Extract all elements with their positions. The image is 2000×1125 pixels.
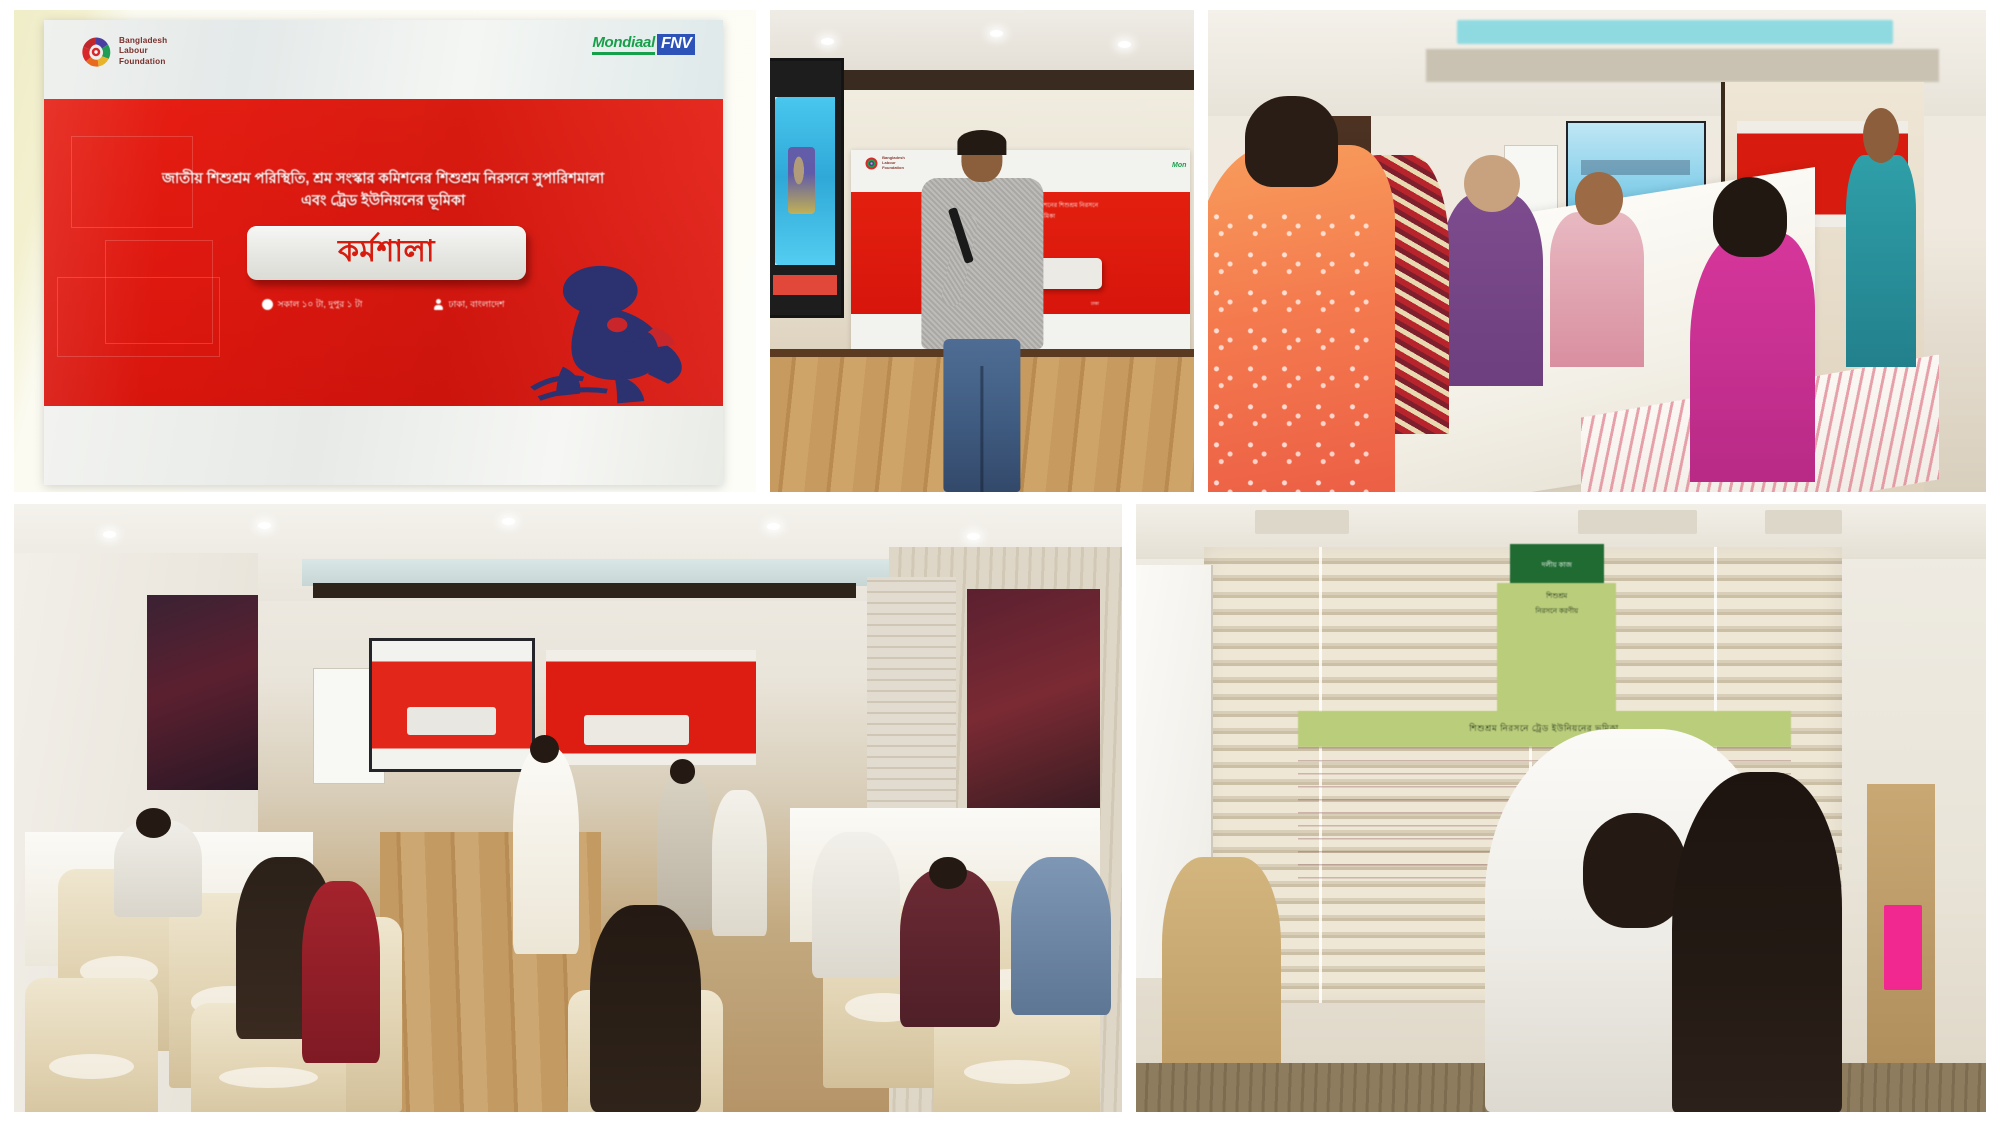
blf-gear-icon xyxy=(79,35,113,69)
participant-seated xyxy=(812,832,901,978)
mondiaal-wordmark: Mondiaal xyxy=(592,34,655,55)
banner-bottom-strip xyxy=(44,406,723,485)
participant-woman-long-hair xyxy=(1672,772,1842,1112)
presenter-head xyxy=(530,735,559,763)
downlight-icon xyxy=(821,38,834,45)
ceiling-cove-light xyxy=(1457,20,1893,44)
group-work-title-card: দলীয় কাজ xyxy=(1510,544,1604,587)
clock-icon xyxy=(262,299,273,310)
watermark-line xyxy=(57,277,220,357)
meeting-room-photo xyxy=(1208,10,1986,492)
slide-footer-bar xyxy=(773,275,837,295)
wall-art xyxy=(967,589,1100,808)
pink-marker-card xyxy=(1884,905,1922,990)
speaker-jeans xyxy=(944,339,1020,492)
blf-logo-small: Bangladesh Labour Foundation xyxy=(864,156,905,171)
participant-seated xyxy=(1011,857,1111,1015)
participant-seated xyxy=(1550,212,1643,366)
participant-head xyxy=(929,857,967,890)
downlight-icon xyxy=(767,523,780,530)
ceiling-cove-light xyxy=(302,559,900,586)
speaker-shirt xyxy=(921,178,1043,349)
blf-logo-text: Bangladesh Labour Foundation xyxy=(119,36,167,67)
slide-graphic xyxy=(775,97,836,265)
bangladesh-labour-foundation-logo: Bangladesh Labour Foundation xyxy=(79,35,167,69)
ceiling-vent xyxy=(1765,510,1842,534)
mondiaal-fnv-logo: Mondiaal FNV xyxy=(592,34,695,55)
wall-art xyxy=(147,595,258,790)
downlight-icon xyxy=(1118,41,1131,48)
photo-collage: Bangladesh Labour Foundation Mondiaal FN… xyxy=(0,0,2000,1125)
banner-headline-line1: জাতীয় শিশুশ্রম পরিস্থিতি, শ্রম সংস্কার … xyxy=(84,168,681,190)
downlight-icon xyxy=(103,531,116,538)
projection-screen xyxy=(369,638,535,772)
ceiling-soffit xyxy=(1426,49,1940,83)
group-work-subtitle-line2: নিরসনে করণীয় xyxy=(1497,604,1616,619)
participant-head xyxy=(670,759,695,783)
ceiling-beam xyxy=(313,583,856,598)
banner-meta-venue-small: ঢাকা xyxy=(1091,301,1099,308)
banner-photo: Bangladesh Labour Foundation Mondiaal FN… xyxy=(14,10,756,492)
person-icon xyxy=(433,299,444,310)
participant-presenter xyxy=(1846,155,1916,367)
banner-meta-row: সকাল ১০ টা, দুপুর ১ টা ঢাকা, বাংলাদেশ xyxy=(139,297,628,312)
ceiling-vent xyxy=(1255,510,1349,534)
blf-gear-icon xyxy=(864,156,879,171)
participant-standing xyxy=(712,790,767,936)
participant-seated xyxy=(302,881,380,1063)
workshop-title-text: কর্মশালা xyxy=(338,227,435,278)
downlight-icon xyxy=(258,522,271,529)
participant-seated xyxy=(900,869,1000,1027)
workshop-title-plate: কর্মশালা xyxy=(247,226,525,280)
participant-foreground xyxy=(1208,145,1395,492)
banner-cloth: Bangladesh Labour Foundation Mondiaal FN… xyxy=(44,20,723,485)
banner-meta-venue: ঢাকা, বাংলাদেশ xyxy=(433,297,505,312)
wall-display-photo: দলীয় কাজ শিশুশ্রম নিরসনে করণীয় শিশুশ্র… xyxy=(1136,504,1986,1112)
group-work-subtitle-sheet: শিশুশ্রম নিরসনে করণীয় xyxy=(1497,583,1616,717)
ceiling-soffit xyxy=(838,70,1194,89)
projection-screen xyxy=(770,58,844,318)
downlight-icon xyxy=(967,533,980,540)
child-labour-silhouette-icon xyxy=(512,261,716,408)
participant-seated xyxy=(1441,193,1542,386)
participant-foreground xyxy=(1690,232,1814,483)
speaker-figure xyxy=(918,135,1045,492)
participant-foreground xyxy=(590,905,701,1112)
ceiling-vent xyxy=(1578,510,1697,534)
speaker-photo: Bangladesh Labour Foundation Mon জাতীয় … xyxy=(770,10,1194,492)
red-banner xyxy=(546,650,757,766)
banner-meta-venue-text: ঢাকা, বাংলাদেশ xyxy=(449,297,505,312)
conference-hall-photo xyxy=(14,504,1122,1112)
speaker-hair xyxy=(958,130,1006,155)
participant-head xyxy=(1583,813,1687,928)
banner-headline-line2: এবং ট্রেড ইউনিয়নের ভূমিকা xyxy=(84,190,681,212)
banner-meta-time-text: সকাল ১০ টা, দুপুর ১ টা xyxy=(278,297,363,312)
group-work-header-strip: শিশুশ্রম নিরসনে ট্রেড ইউনিয়নের ভূমিকা xyxy=(1298,711,1791,747)
banner-headline: জাতীয় শিশুশ্রম পরিস্থিতি, শ্রম সংস্কার … xyxy=(84,168,681,213)
mondiaal-wordmark-small: Mon xyxy=(1172,162,1186,169)
group-work-subtitle-line1: শিশুশ্রম xyxy=(1497,589,1616,604)
fnv-wordmark: FNV xyxy=(657,34,696,55)
blf-logo-text: Bangladesh Labour Foundation xyxy=(882,156,905,170)
banner-meta-time: সকাল ১০ টা, দুপুর ১ টা xyxy=(262,297,363,312)
downlight-icon xyxy=(502,518,515,525)
banquet-chair xyxy=(25,978,158,1112)
presenter-standing xyxy=(513,747,579,954)
downlight-icon xyxy=(990,30,1003,37)
banner-red-field: জাতীয় শিশুশ্রম পরিস্থিতি, শ্রম সংস্কার … xyxy=(44,99,723,406)
